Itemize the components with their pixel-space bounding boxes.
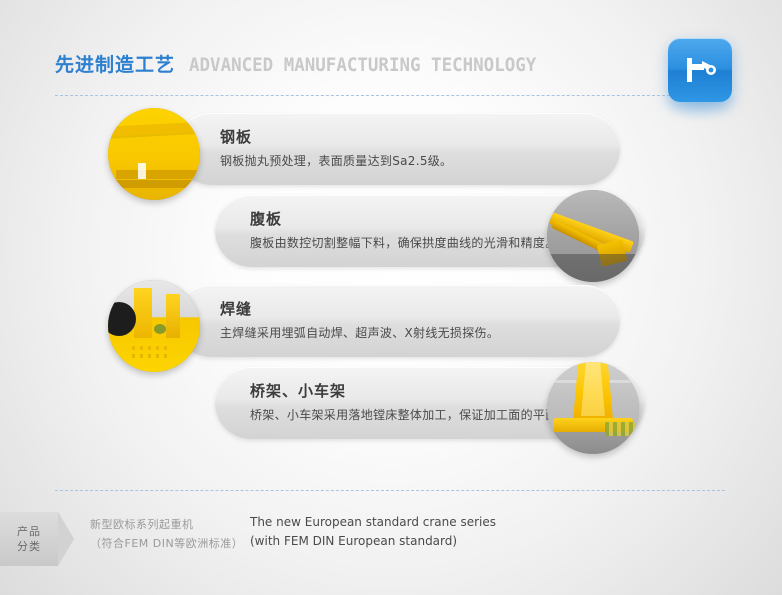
photo-detail xyxy=(132,346,172,350)
feature-pill-1: 钢板 钢板抛丸预处理，表面质量达到Sa2.5级。 xyxy=(175,113,620,185)
feature-desc-4: 桥架、小车架采用落地镗床整体加工，保证加工面的平面度。 xyxy=(250,406,582,424)
feature-list: 钢板 钢板抛丸预处理，表面质量达到Sa2.5级。 腹板 腹板由数控切割整幅下料，… xyxy=(0,108,782,448)
photo-detail xyxy=(166,294,180,338)
photo-detail xyxy=(108,180,200,188)
photo-detail xyxy=(605,422,635,436)
feature-desc-2: 腹板由数控切割整幅下料，确保拱度曲线的光滑和精度。 xyxy=(250,234,558,252)
weld-seam-photo xyxy=(108,280,200,372)
footer-caption-en: The new European standard crane series (… xyxy=(250,513,580,551)
photo-detail xyxy=(154,324,166,334)
photo-inner xyxy=(108,108,200,200)
page-header: 先进制造工艺 ADVANCED MANUFACTURING TECHNOLOGY xyxy=(55,50,725,77)
footer-cn-line-1: 新型欧标系列起重机 xyxy=(90,515,250,534)
feature-title-1: 钢板 xyxy=(220,127,452,147)
brand-logo-badge xyxy=(668,38,732,102)
footer-en-line-2: (with FEM DIN European standard) xyxy=(250,532,580,551)
photo-detail xyxy=(134,288,152,338)
bridge-trolley-frame-photo xyxy=(547,362,639,454)
page-title-cn: 先进制造工艺 xyxy=(55,50,175,77)
photo-detail xyxy=(132,354,172,358)
tab-arrow-icon xyxy=(58,512,74,566)
photo-detail xyxy=(547,254,639,282)
feature-title-4: 桥架、小车架 xyxy=(250,381,582,401)
photo-detail xyxy=(108,121,200,137)
steel-plate-photo xyxy=(108,108,200,200)
footer-cn-line-2: （符合FEM DIN等欧洲标准） xyxy=(90,534,250,553)
tab-line-1: 产品 xyxy=(17,524,41,539)
footer-divider xyxy=(55,490,725,491)
tab-line-2: 分类 xyxy=(17,539,41,554)
photo-detail xyxy=(138,163,146,179)
footer-en-line-1: The new European standard crane series xyxy=(250,513,580,532)
header-titles: 先进制造工艺 ADVANCED MANUFACTURING TECHNOLOGY xyxy=(55,50,725,77)
web-plate-photo xyxy=(547,190,639,282)
feature-desc-3: 主焊缝采用埋弧自动焊、超声波、X射线无损探伤。 xyxy=(220,324,499,342)
feature-text-4: 桥架、小车架 桥架、小车架采用落地镗床整体加工，保证加工面的平面度。 xyxy=(250,381,582,424)
photo-inner xyxy=(108,280,200,372)
crane-hook-logo-icon xyxy=(668,38,732,102)
photo-detail xyxy=(116,170,200,179)
header-divider xyxy=(55,95,670,96)
feature-title-3: 焊缝 xyxy=(220,299,499,319)
product-category-tab-label: 产品 分类 xyxy=(17,524,41,554)
feature-pill-3: 焊缝 主焊缝采用埋弧自动焊、超声波、X射线无损探伤。 xyxy=(175,285,620,357)
photo-inner xyxy=(547,190,639,282)
feature-desc-1: 钢板抛丸预处理，表面质量达到Sa2.5级。 xyxy=(220,152,452,170)
feature-text-2: 腹板 腹板由数控切割整幅下料，确保拱度曲线的光滑和精度。 xyxy=(250,209,558,252)
photo-detail xyxy=(108,302,136,336)
photo-inner xyxy=(547,362,639,454)
page-root: 先进制造工艺 ADVANCED MANUFACTURING TECHNOLOGY… xyxy=(0,0,782,595)
feature-title-2: 腹板 xyxy=(250,209,558,229)
feature-text-1: 钢板 钢板抛丸预处理，表面质量达到Sa2.5级。 xyxy=(220,127,452,170)
page-title-en: ADVANCED MANUFACTURING TECHNOLOGY xyxy=(189,54,536,76)
footer-caption-cn: 新型欧标系列起重机 （符合FEM DIN等欧洲标准） xyxy=(90,515,250,553)
feature-text-3: 焊缝 主焊缝采用埋弧自动焊、超声波、X射线无损探伤。 xyxy=(220,299,499,342)
product-category-tab[interactable]: 产品 分类 xyxy=(0,512,58,566)
